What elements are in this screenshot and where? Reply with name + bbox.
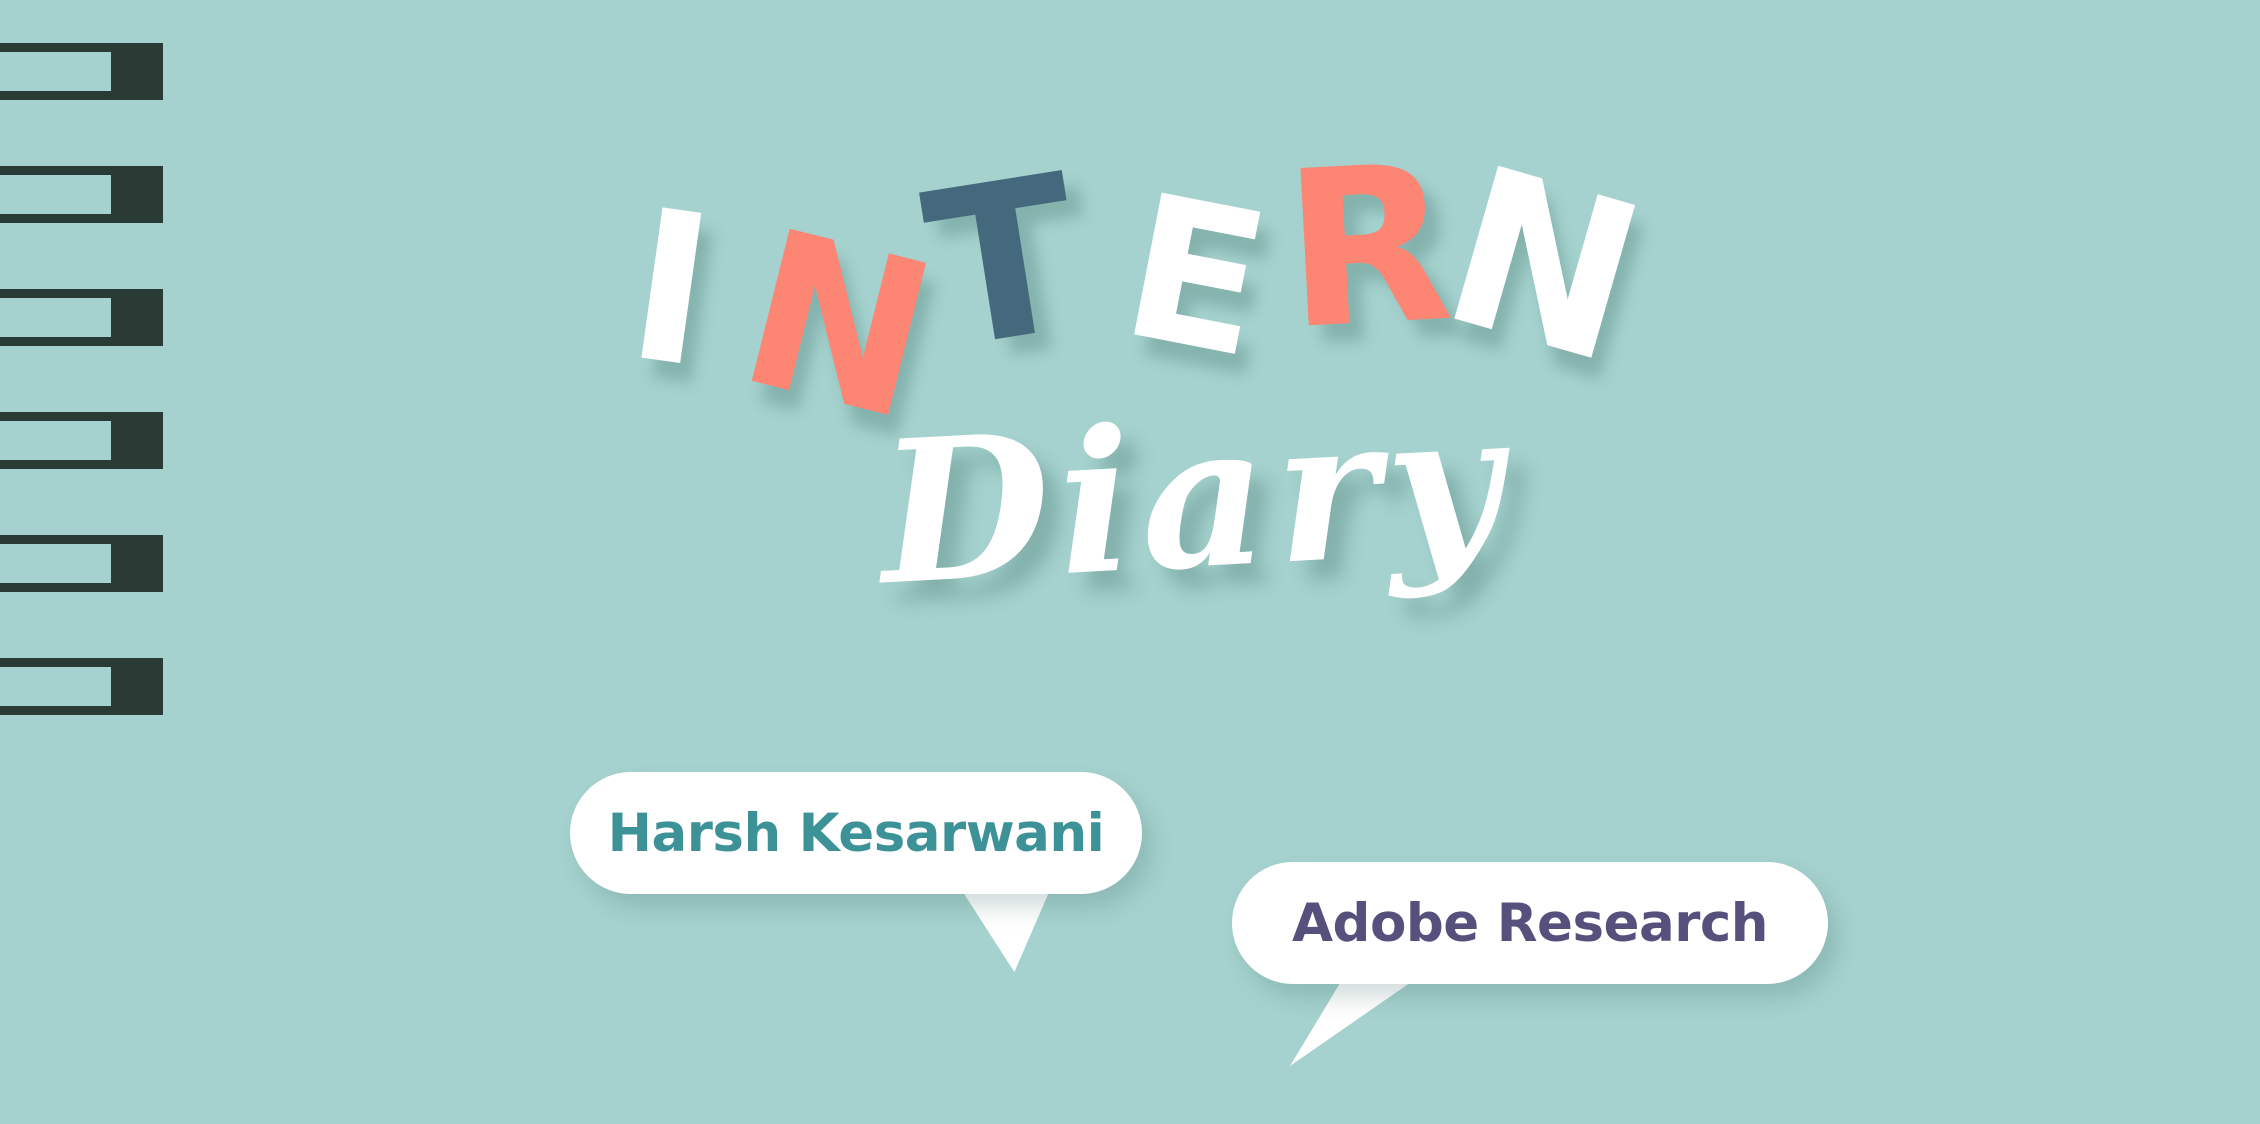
title-diary: Diary xyxy=(875,384,1513,613)
organization-bubble-label: Adobe Research xyxy=(1292,893,1768,954)
title-letter-t: T xyxy=(914,145,1092,380)
name-bubble-label: Harsh Kesarwani xyxy=(608,803,1105,864)
slide-canvas: I N T E R N Diary Harsh Kesarwani Adobe … xyxy=(0,0,2260,1124)
binder-ring xyxy=(0,658,163,715)
title-letter-n2: N xyxy=(1425,137,1660,397)
title-letter-i: I xyxy=(618,182,724,399)
binder-ring xyxy=(0,535,163,592)
organization-bubble[interactable]: Adobe Research xyxy=(1232,862,1828,984)
title-letter-e: E xyxy=(1110,167,1281,387)
name-bubble[interactable]: Harsh Kesarwani xyxy=(570,772,1142,894)
